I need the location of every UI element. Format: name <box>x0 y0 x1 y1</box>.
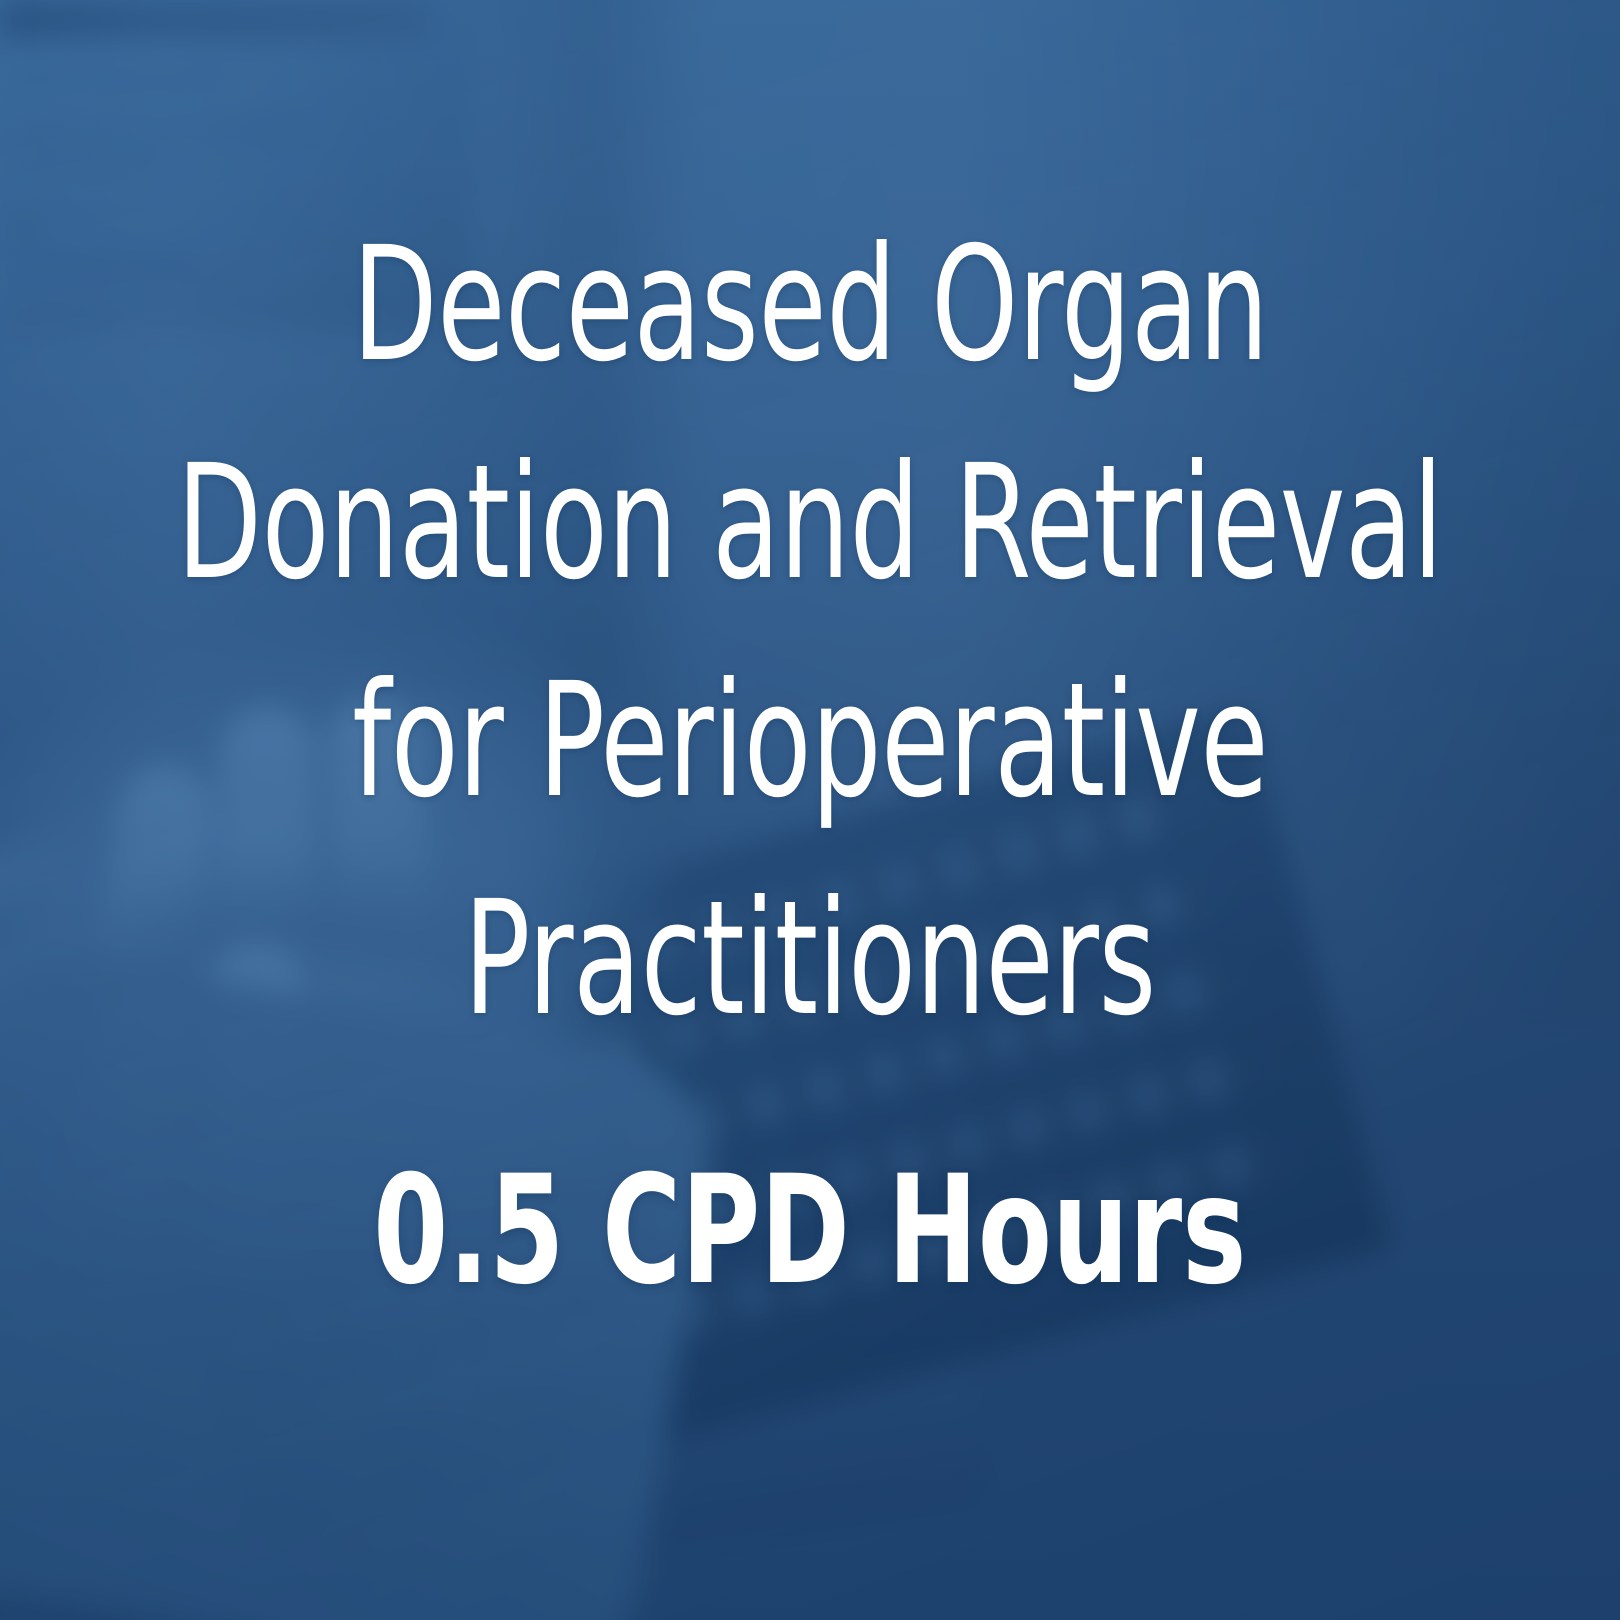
course-title-line-1: Deceased Organ <box>352 196 1268 414</box>
course-banner-card: Deceased Organ Donation and Retrieval fo… <box>0 0 1620 1620</box>
course-title-line-2: Donation and Retrieval <box>177 414 1443 632</box>
course-title-line-4: Practitioners <box>464 850 1156 1068</box>
banner-text-block: Deceased Organ Donation and Retrieval fo… <box>0 0 1620 1620</box>
course-title-line-3: for Perioperative <box>352 632 1268 850</box>
cpd-hours-badge: 0.5 CPD Hours <box>373 1156 1246 1306</box>
